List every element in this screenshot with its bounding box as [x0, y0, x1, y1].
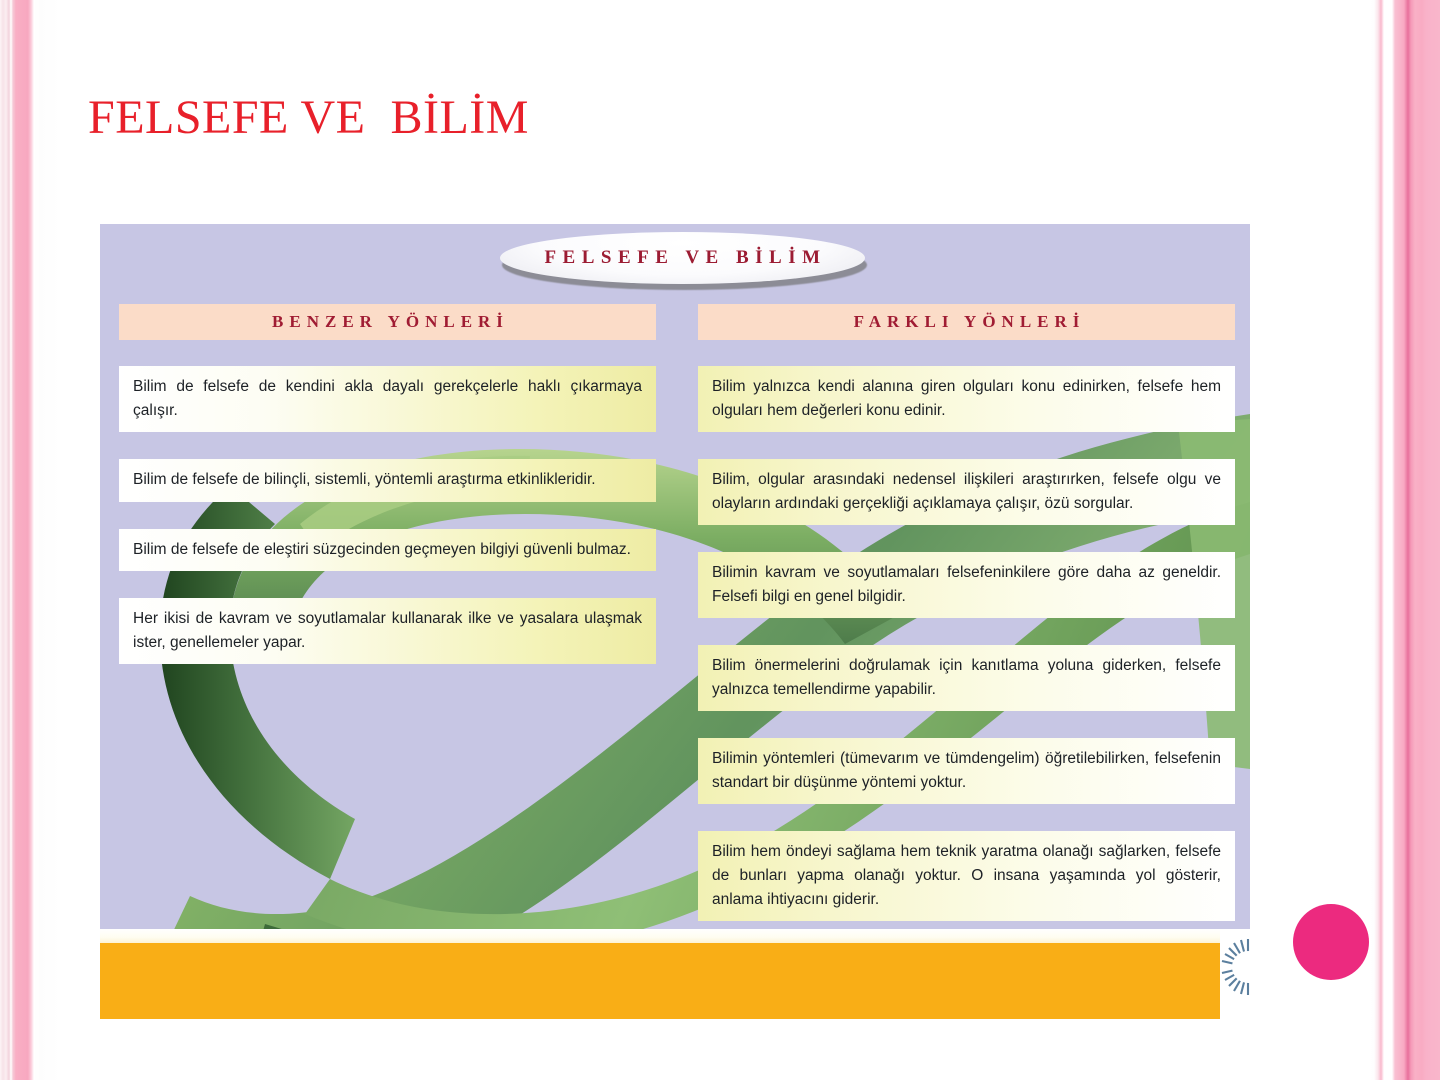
bottom-orange-bar — [100, 943, 1220, 1019]
right-stripe-decoration — [1370, 0, 1440, 1080]
list-item: Bilim önermelerini doğrulamak için kanıt… — [698, 645, 1235, 711]
comparison-columns: BENZER YÖNLERİ Bilim de felsefe de kendi… — [100, 304, 1250, 1019]
list-item: Bilim hem öndeyi sağlama hem teknik yara… — [698, 831, 1235, 921]
sunburst-logo-icon — [1218, 937, 1250, 997]
banner-ellipse: FELSEFE VE BİLİM — [500, 232, 865, 284]
diagram-banner: FELSEFE VE BİLİM — [500, 232, 865, 290]
list-item: Her ikisi de kavram ve soyutlamalar kull… — [119, 598, 656, 664]
column-similarities: BENZER YÖNLERİ Bilim de felsefe de kendi… — [119, 304, 656, 664]
column-differences: FARKLI YÖNLERİ Bilim yalnızca kendi alan… — [698, 304, 1235, 921]
list-item: Bilim de felsefe de bilinçli, sistemli, … — [119, 459, 656, 502]
left-stripe-decoration — [0, 0, 60, 1080]
bar-separator — [100, 929, 1250, 943]
list-item: Bilim de felsefe de eleştiri süzgecinden… — [119, 529, 656, 572]
column-header-label: FARKLI YÖNLERİ — [848, 312, 1086, 332]
list-item: Bilim, olgular arasındaki nedensel ilişk… — [698, 459, 1235, 525]
list-item: Bilim de felsefe de kendini akla dayalı … — [119, 366, 656, 432]
list-item: Bilimin kavram ve soyutlamaları felsefen… — [698, 552, 1235, 618]
column-header-differences: FARKLI YÖNLERİ — [698, 304, 1235, 340]
slide-canvas: FELSEFE VE BİLİM — [0, 0, 1440, 1080]
pink-circle-decoration — [1293, 904, 1369, 980]
list-item: Bilimin yöntemleri (tümevarım ve tümdeng… — [698, 738, 1235, 804]
list-item: Bilim yalnızca kendi alanına giren olgul… — [698, 366, 1235, 432]
column-header-similarities: BENZER YÖNLERİ — [119, 304, 656, 340]
column-header-label: BENZER YÖNLERİ — [266, 312, 509, 332]
page-title: FELSEFE VE BİLİM — [88, 92, 529, 145]
comparison-diagram-image: FELSEFE VE BİLİM BENZER YÖNLERİ Bilim de… — [100, 224, 1250, 1019]
banner-title-text: FELSEFE VE BİLİM — [538, 247, 826, 269]
